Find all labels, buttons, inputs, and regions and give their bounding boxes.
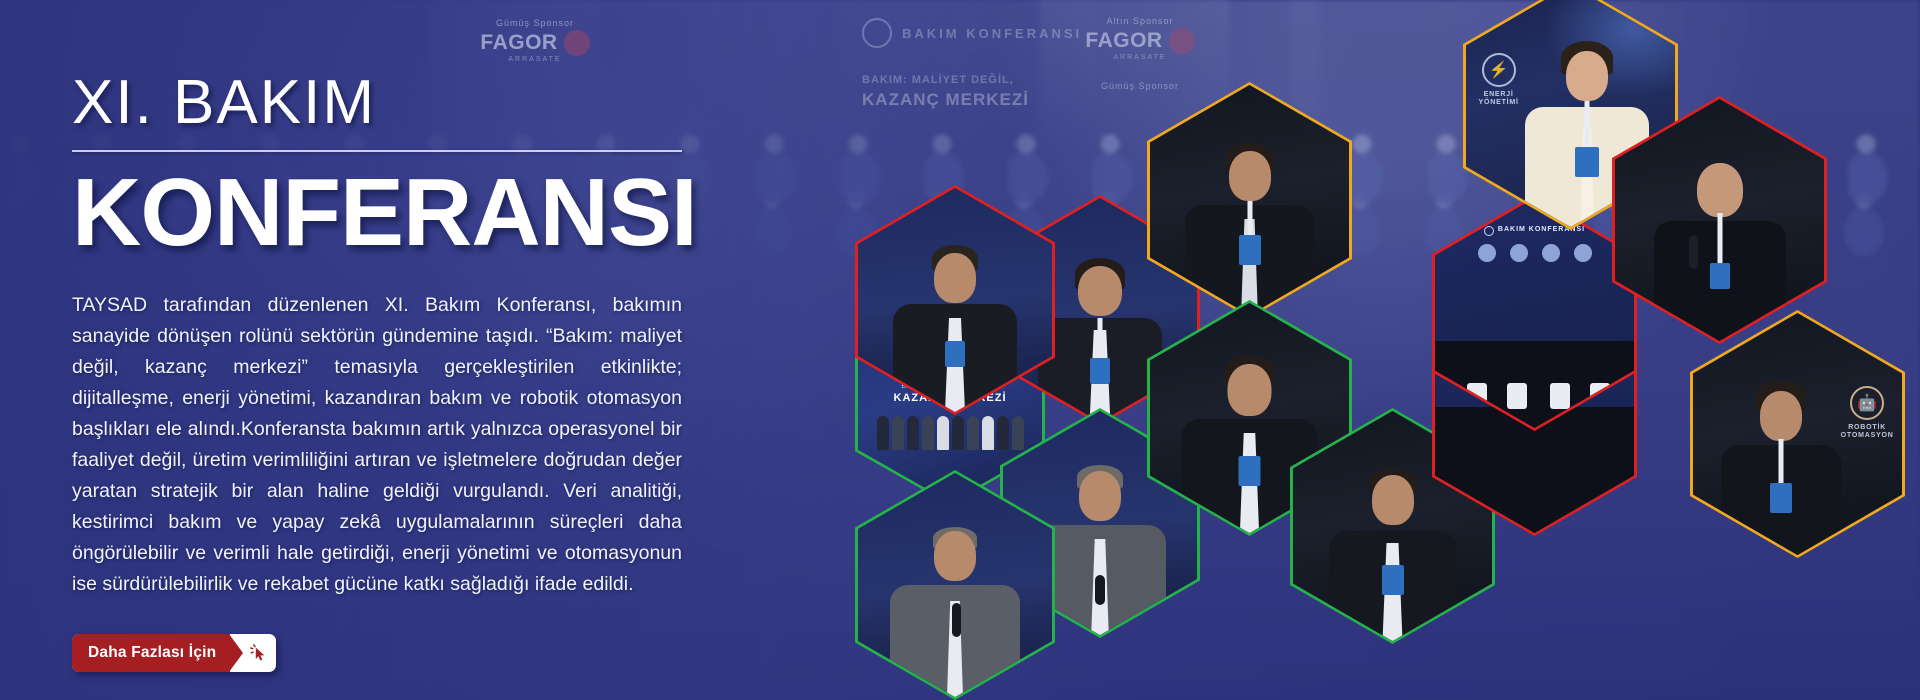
panel-logo-icon <box>1484 226 1494 236</box>
energy-bolt-icon: ⚡ <box>1482 53 1516 87</box>
robot-arm-icon: 🤖 <box>1850 386 1884 420</box>
microphone-icon <box>952 603 961 637</box>
photo-robotics-speaker: 🤖 ROBOTİK OTOMASYON <box>1693 313 1902 555</box>
group-people-row <box>877 416 1024 450</box>
topic-label-robotics-2: OTOMASYON <box>1841 432 1894 440</box>
headline-kicker: XI. BAKIM <box>72 72 692 134</box>
headline-main: KONFERANSI <box>72 166 692 260</box>
hex-robotics-speaker[interactable]: 🤖 ROBOTİK OTOMASYON <box>1690 310 1905 558</box>
cta-label: Daha Fazlası İçin <box>72 634 230 672</box>
content-column: XI. BAKIM KONFERANSI TAYSAD tarafından d… <box>72 0 692 700</box>
person-figure <box>885 517 1025 697</box>
topic-badge-energy: ⚡ ENERJİ YÖNETİMİ <box>1479 53 1519 107</box>
person-figure <box>1323 461 1463 641</box>
microphone-icon <box>1689 235 1698 269</box>
topic-label-energy-2: YÖNETİMİ <box>1479 99 1519 107</box>
topic-badge-robotics: 🤖 ROBOTİK OTOMASYON <box>1841 386 1894 440</box>
body-paragraph: TAYSAD tarafından düzenlenen XI. Bakım K… <box>72 290 682 600</box>
topic-label-energy-1: ENERJİ <box>1479 91 1519 99</box>
person-figure <box>1650 151 1790 341</box>
topic-label-robotics-1: ROBOTİK <box>1841 424 1894 432</box>
conference-banner: Gümüş Sponsor FAGOR ARRASATE Altın Spons… <box>0 0 1920 700</box>
person-figure <box>1717 375 1845 555</box>
person-figure <box>890 237 1020 412</box>
person-figure <box>1180 135 1320 315</box>
headline-divider <box>72 150 682 152</box>
daha-fazlasi-icin-button[interactable]: Daha Fazlası İçin <box>72 634 276 672</box>
